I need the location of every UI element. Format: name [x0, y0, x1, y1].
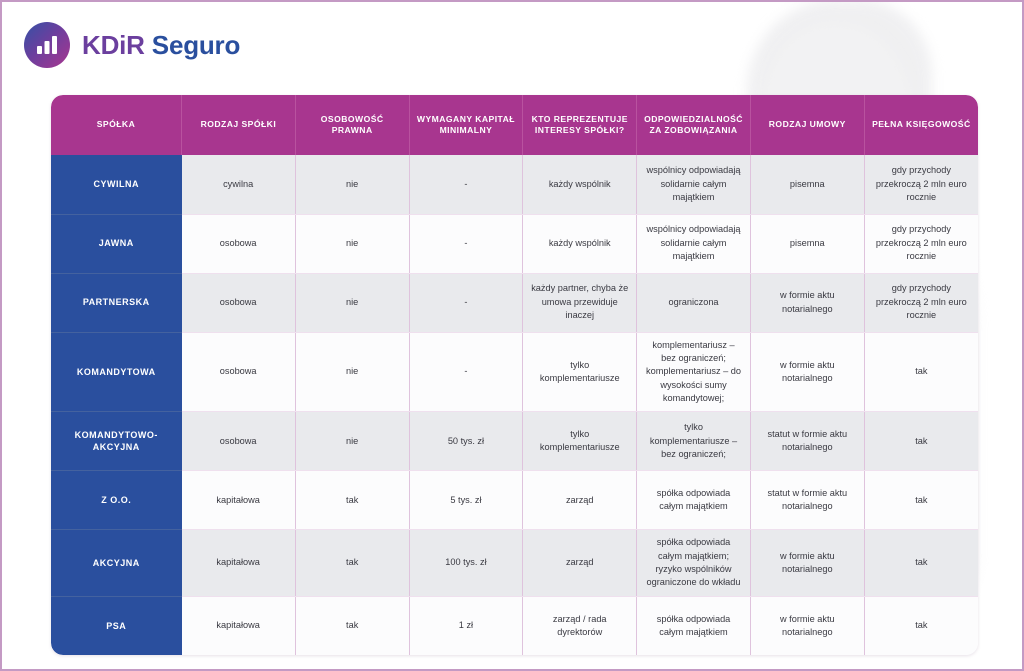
table-row: CYWILNA cywilna nie - każdy wspólnik wsp…	[51, 155, 978, 214]
cell-rodzaj-spolki: kapitałowa	[182, 596, 296, 655]
cell-wymagany-kapital: -	[409, 214, 523, 273]
cell-rodzaj-umowy: w formie aktu notarialnego	[750, 530, 864, 596]
table-row: AKCYJNA kapitałowa tak 100 tys. zł zarzą…	[51, 530, 978, 596]
cell-wymagany-kapital: -	[409, 273, 523, 332]
cell-rodzaj-umowy: pisemna	[750, 155, 864, 214]
column-header-wymagany-kapital-minimalny: WYMAGANY KAPITAŁ MINIMALNY	[409, 95, 523, 155]
cell-osobowosc-prawna: nie	[295, 155, 409, 214]
table-body: CYWILNA cywilna nie - każdy wspólnik wsp…	[51, 155, 978, 655]
cell-odpowiedzialnosc: spółka odpowiada całym majątkiem	[637, 471, 751, 530]
page-frame: KDiR Seguro SPÓŁKA RODZAJ SPÓŁKI OSOBOWO…	[0, 0, 1024, 671]
table-row: JAWNA osobowa nie - każdy wspólnik wspól…	[51, 214, 978, 273]
cell-odpowiedzialnosc: tylko komplementariusze – bez ograniczeń…	[637, 412, 751, 471]
column-header-odpowiedzialnosc-za-zobowiazania: ODPOWIEDZIALNOŚĆ ZA ZOBOWIĄZANIA	[637, 95, 751, 155]
cell-reprezentacja: każdy wspólnik	[523, 155, 637, 214]
cell-wymagany-kapital: -	[409, 155, 523, 214]
bar-chart-icon	[24, 22, 70, 68]
column-header-kto-reprezentuje-interesy-spolki: KTO REPREZENTUJE INTERESY SPÓŁKI?	[523, 95, 637, 155]
cell-rodzaj-umowy: w formie aktu notarialnego	[750, 332, 864, 412]
cell-wymagany-kapital: 50 tys. zł	[409, 412, 523, 471]
table-row: Z O.O. kapitałowa tak 5 tys. zł zarząd s…	[51, 471, 978, 530]
cell-wymagany-kapital: 1 zł	[409, 596, 523, 655]
cell-company-name: AKCYJNA	[51, 530, 182, 596]
cell-pelna-ksiegowosc: tak	[864, 471, 978, 530]
cell-rodzaj-umowy: w formie aktu notarialnego	[750, 596, 864, 655]
company-types-comparison-table: SPÓŁKA RODZAJ SPÓŁKI OSOBOWOŚĆ PRAWNA WY…	[51, 95, 978, 655]
cell-reprezentacja: każdy partner, chyba że umowa przewiduje…	[523, 273, 637, 332]
cell-osobowosc-prawna: nie	[295, 273, 409, 332]
table-row: KOMANDYTOWO-AKCYJNA osobowa nie 50 tys. …	[51, 412, 978, 471]
cell-reprezentacja: tylko komplementariusze	[523, 412, 637, 471]
cell-reprezentacja: zarząd / rada dyrektorów	[523, 596, 637, 655]
cell-company-name: JAWNA	[51, 214, 182, 273]
cell-wymagany-kapital: -	[409, 332, 523, 412]
cell-rodzaj-spolki: osobowa	[182, 273, 296, 332]
cell-osobowosc-prawna: tak	[295, 471, 409, 530]
column-header-rodzaj-umowy: RODZAJ UMOWY	[750, 95, 864, 155]
cell-rodzaj-spolki: osobowa	[182, 332, 296, 412]
cell-odpowiedzialnosc: spółka odpowiada całym majątkiem; ryzyko…	[637, 530, 751, 596]
cell-company-name: PSA	[51, 596, 182, 655]
cell-pelna-ksiegowosc: gdy przychody przekroczą 2 mln euro rocz…	[864, 214, 978, 273]
cell-pelna-ksiegowosc: tak	[864, 332, 978, 412]
column-header-pelna-ksiegowosc: PEŁNA KSIĘGOWOŚĆ	[864, 95, 978, 155]
column-header-rodzaj-spolki: RODZAJ SPÓŁKI	[182, 95, 296, 155]
cell-odpowiedzialnosc: ograniczona	[637, 273, 751, 332]
table-header-row: SPÓŁKA RODZAJ SPÓŁKI OSOBOWOŚĆ PRAWNA WY…	[51, 95, 978, 155]
brand-name-primary: KDiR	[82, 30, 145, 60]
table-row: KOMANDYTOWA osobowa nie - tylko kompleme…	[51, 332, 978, 412]
cell-osobowosc-prawna: nie	[295, 214, 409, 273]
cell-osobowosc-prawna: tak	[295, 596, 409, 655]
cell-rodzaj-spolki: osobowa	[182, 412, 296, 471]
cell-odpowiedzialnosc: spółka odpowiada całym majątkiem	[637, 596, 751, 655]
brand-logo: KDiR Seguro	[24, 22, 240, 68]
cell-reprezentacja: każdy wspólnik	[523, 214, 637, 273]
cell-wymagany-kapital: 5 tys. zł	[409, 471, 523, 530]
cell-rodzaj-spolki: kapitałowa	[182, 530, 296, 596]
cell-rodzaj-umowy: pisemna	[750, 214, 864, 273]
cell-pelna-ksiegowosc: tak	[864, 412, 978, 471]
cell-pelna-ksiegowosc: gdy przychody przekroczą 2 mln euro rocz…	[864, 273, 978, 332]
cell-osobowosc-prawna: nie	[295, 332, 409, 412]
cell-osobowosc-prawna: nie	[295, 412, 409, 471]
cell-reprezentacja: zarząd	[523, 530, 637, 596]
cell-pelna-ksiegowosc: tak	[864, 530, 978, 596]
cell-odpowiedzialnosc: wspólnicy odpowiadają solidarnie całym m…	[637, 214, 751, 273]
cell-pelna-ksiegowosc: gdy przychody przekroczą 2 mln euro rocz…	[864, 155, 978, 214]
cell-rodzaj-spolki: cywilna	[182, 155, 296, 214]
cell-odpowiedzialnosc: komplementariusz – bez ograniczeń; kompl…	[637, 332, 751, 412]
cell-rodzaj-spolki: osobowa	[182, 214, 296, 273]
cell-company-name: KOMANDYTOWA	[51, 332, 182, 412]
cell-company-name: PARTNERSKA	[51, 273, 182, 332]
column-header-osobowosc-prawna: OSOBOWOŚĆ PRAWNA	[295, 95, 409, 155]
cell-reprezentacja: zarząd	[523, 471, 637, 530]
cell-company-name: Z O.O.	[51, 471, 182, 530]
cell-pelna-ksiegowosc: tak	[864, 596, 978, 655]
table-row: PSA kapitałowa tak 1 zł zarząd / rada dy…	[51, 596, 978, 655]
cell-rodzaj-umowy: w formie aktu notarialnego	[750, 273, 864, 332]
cell-odpowiedzialnosc: wspólnicy odpowiadają solidarnie całym m…	[637, 155, 751, 214]
cell-rodzaj-umowy: statut w formie aktu notarialnego	[750, 412, 864, 471]
cell-company-name: CYWILNA	[51, 155, 182, 214]
table-row: PARTNERSKA osobowa nie - każdy partner, …	[51, 273, 978, 332]
cell-company-name: KOMANDYTOWO-AKCYJNA	[51, 412, 182, 471]
cell-reprezentacja: tylko komplementariusze	[523, 332, 637, 412]
cell-rodzaj-spolki: kapitałowa	[182, 471, 296, 530]
cell-rodzaj-umowy: statut w formie aktu notarialnego	[750, 471, 864, 530]
comparison-table-card: SPÓŁKA RODZAJ SPÓŁKI OSOBOWOŚĆ PRAWNA WY…	[51, 95, 978, 655]
cell-osobowosc-prawna: tak	[295, 530, 409, 596]
column-header-spolka: SPÓŁKA	[51, 95, 182, 155]
brand-name-secondary: Seguro	[152, 30, 240, 60]
cell-wymagany-kapital: 100 tys. zł	[409, 530, 523, 596]
table-header: SPÓŁKA RODZAJ SPÓŁKI OSOBOWOŚĆ PRAWNA WY…	[51, 95, 978, 155]
page-title: KDiR Seguro	[82, 30, 240, 61]
